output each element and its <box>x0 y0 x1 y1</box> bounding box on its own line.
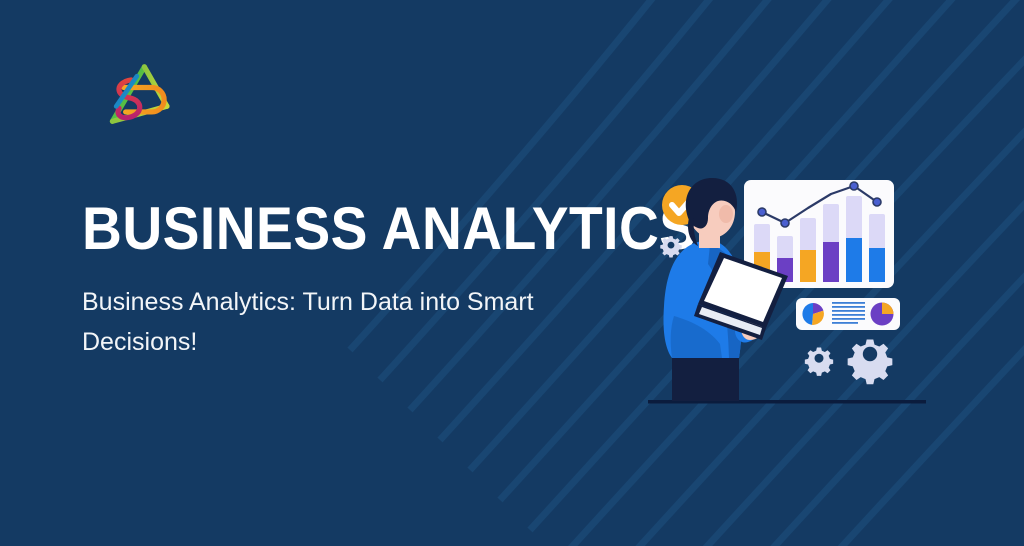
pie-chart-left <box>802 303 823 325</box>
gear-large-right-icon <box>848 340 893 385</box>
gear-small-right-icon <box>805 348 833 376</box>
person-ear <box>719 205 733 223</box>
pie-panel <box>796 298 900 330</box>
hero-text-block: BUSINESS ANALYTICS Business Analytics: T… <box>82 198 622 362</box>
page-title: BUSINESS ANALYTICS <box>82 198 579 260</box>
marketing-banner: BUSINESS ANALYTICS Business Analytics: T… <box>0 0 1024 546</box>
page-subtitle: Business Analytics: Turn Data into Smart… <box>82 282 542 362</box>
analytics-illustration <box>636 168 936 418</box>
pie-chart-right <box>871 303 894 326</box>
brand-logo[interactable] <box>88 48 182 142</box>
gear-small-left-icon <box>660 236 681 257</box>
